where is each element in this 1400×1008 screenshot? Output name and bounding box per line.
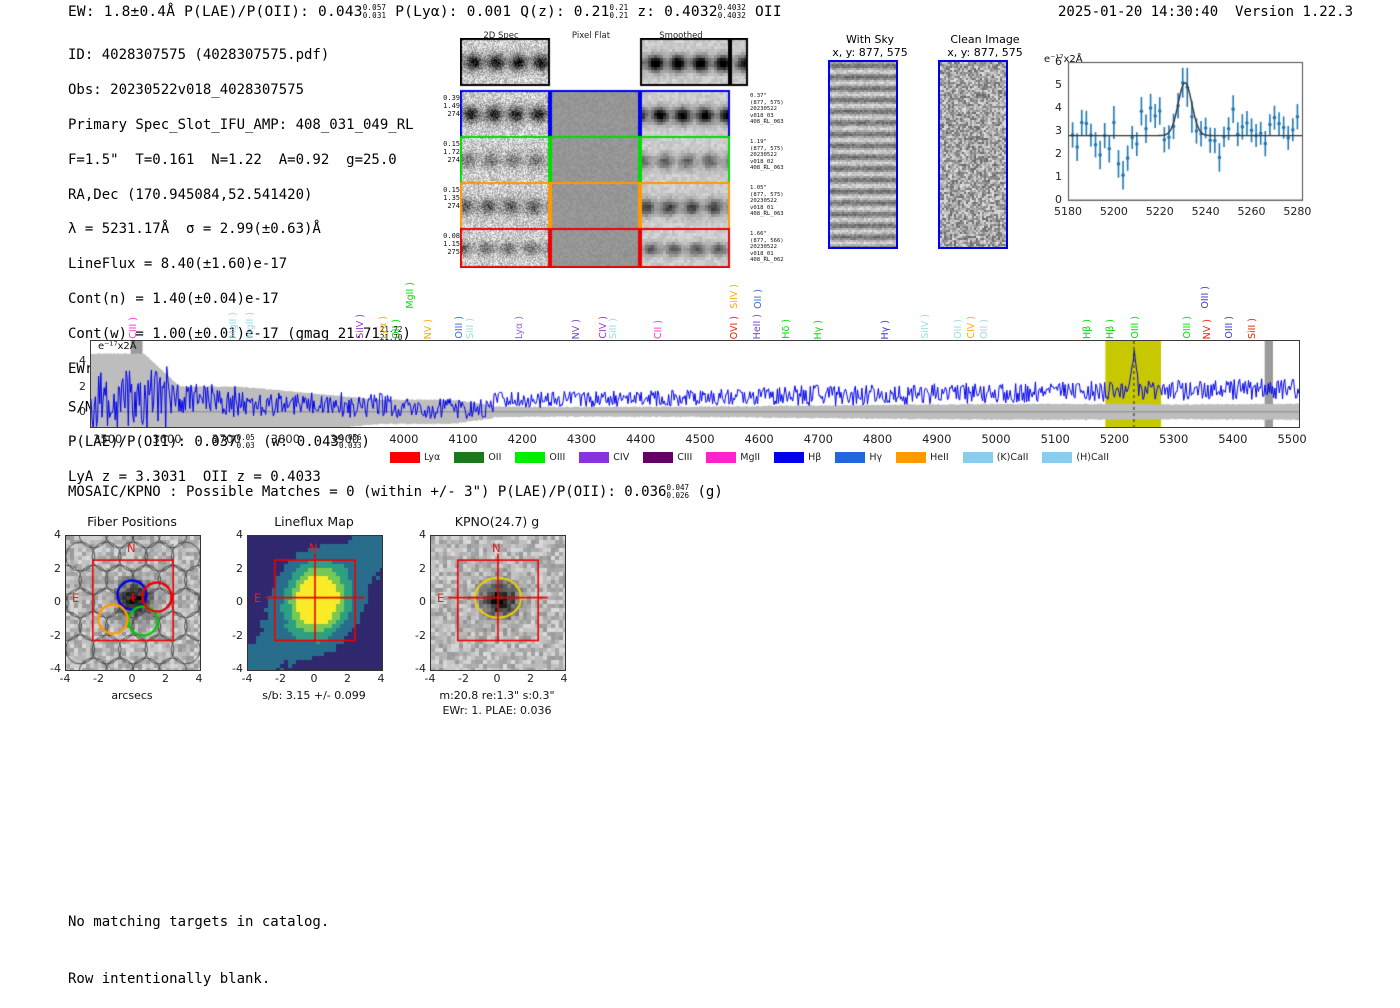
- emission-line-label-CII: CII ): [653, 320, 664, 339]
- panel-xtick: 0: [120, 672, 144, 685]
- emission-line-label-H: Hγ ): [813, 320, 824, 340]
- panel-xtick: 0: [485, 672, 509, 685]
- panel-ytick: 0: [406, 595, 426, 608]
- legend-color-chip: [454, 452, 484, 463]
- cutout-left-value: 0.08: [432, 232, 460, 240]
- emission-line-label-HeII: HeII ): [752, 314, 763, 339]
- spectrum-xtick: 4400: [617, 432, 665, 446]
- legend-label: (H)CaII: [1076, 452, 1109, 463]
- panel-ytick: -4: [406, 662, 426, 675]
- legend-label: MgII: [740, 452, 760, 463]
- panel-ytick: -4: [223, 662, 243, 675]
- emission-line-label-OIII: OIII ): [454, 316, 465, 339]
- imaging-panels: Fiber PositionsNE-4-2024420-2-4arcsecsLi…: [0, 0, 1400, 200]
- legend-color-chip: [774, 452, 804, 463]
- spectrum-xtick: 4500: [676, 432, 724, 446]
- panel-caption2-2: EWr: 1. PLAE: 0.036: [390, 704, 604, 717]
- spectrum-xtick: 4800: [854, 432, 902, 446]
- compass-north-2: N: [492, 541, 501, 555]
- panel-image-2[interactable]: [430, 535, 566, 671]
- emission-line-label-Ly: Lyα ): [378, 316, 389, 339]
- spectrum-xtick: 5000: [972, 432, 1020, 446]
- emission-line-labels: CIII )MgII )MgII )SiIV )Lyα )OII )MgII )…: [90, 275, 1300, 339]
- spectrum-flux-annotation: e⁻¹⁷x2Å: [98, 341, 137, 352]
- mosaic-match-line: MOSAIC/KPNO : Possible Matches = 0 (with…: [68, 484, 723, 500]
- full-spectrum-canvas: [91, 341, 1299, 427]
- panel-ytick: -2: [406, 629, 426, 642]
- compass-north-0: N: [127, 541, 136, 555]
- emission-line-label-H: Hγ ): [880, 320, 891, 340]
- compass-east-2: E: [437, 591, 444, 605]
- legend-label: OIII: [549, 452, 565, 463]
- legend-entry: OIII: [515, 452, 565, 463]
- legend-entry: CIII: [643, 452, 692, 463]
- legend-label: HeII: [930, 452, 949, 463]
- compass-east-1: E: [254, 591, 261, 605]
- panel-ytick: 0: [41, 595, 61, 608]
- panel-ytick: 4: [41, 528, 61, 541]
- emission-line-label-SiII: SiII ): [608, 318, 619, 339]
- legend-color-chip: [963, 452, 993, 463]
- spectrum-ytick: 2: [70, 380, 86, 393]
- zoom-xtick: 5240: [1190, 205, 1222, 218]
- emission-line-label-SiII: SiII ): [465, 318, 476, 339]
- cutout-right-value: 20230522: [750, 244, 808, 251]
- emission-line-label-MgII: MgII ): [228, 312, 239, 339]
- panel-ytick: -4: [41, 662, 61, 675]
- spectrum-xtick: 4900: [913, 432, 961, 446]
- cutout-left-label-4: 0.081.15275: [432, 232, 460, 257]
- legend-entry: CIV: [579, 452, 629, 463]
- zoom-xtick: 5180: [1052, 205, 1084, 218]
- info-wavelength: λ = 5231.17Å σ = 2.99(±0.63)Å: [68, 221, 414, 238]
- panel-ytick: 2: [223, 562, 243, 575]
- emission-line-label-OII: OII ): [753, 289, 764, 309]
- panel-xtick: 4: [187, 672, 211, 685]
- cutout-left-value: 274: [432, 202, 460, 210]
- legend-label: Hγ: [869, 452, 882, 463]
- legend-color-chip: [835, 452, 865, 463]
- legend-color-chip: [515, 452, 545, 463]
- cutout-right-label-4: 1.66"(877, 566)20230522v018_01408_RL_062: [750, 231, 808, 264]
- panel-xtick: 4: [552, 672, 576, 685]
- emission-line-label-NV: NV ): [571, 319, 582, 339]
- panel-xtick: 2: [519, 672, 543, 685]
- legend-entry: HeII: [896, 452, 949, 463]
- emission-line-label-SiIV: SiIV ): [920, 314, 931, 339]
- cutout-left-value: 275: [432, 248, 460, 256]
- footer-note: No matching targets in catalog. Row inte…: [68, 875, 329, 1008]
- emission-line-label-SiIV: SiIV ): [729, 284, 740, 309]
- panel-title-2: KPNO(24.7) g: [405, 514, 589, 529]
- spectrum-ytick: 4: [70, 354, 86, 367]
- zoom-xtick: 5200: [1098, 205, 1130, 218]
- cutout-right-value: 408_RL_062: [750, 257, 808, 264]
- footer-line-2: Row intentionally blank.: [68, 970, 329, 989]
- compass-east-0: E: [72, 591, 79, 605]
- spectrum-xtick: 5200: [1090, 432, 1138, 446]
- spectrum-xtick: 5400: [1209, 432, 1257, 446]
- legend-color-chip: [643, 452, 673, 463]
- panel-ytick: 2: [41, 562, 61, 575]
- emission-line-label-H: Hβ ): [1082, 319, 1093, 339]
- panel-image-1[interactable]: [247, 535, 383, 671]
- legend-entry: MgII: [706, 452, 760, 463]
- cutout-right-value: v018_01: [750, 251, 808, 258]
- panel-xtick: -2: [269, 672, 293, 685]
- panel-ytick: 2: [406, 562, 426, 575]
- zoom-xtick: 5260: [1236, 205, 1268, 218]
- cutout-right-value: v018_01: [750, 205, 808, 212]
- panel-xtick: -2: [452, 672, 476, 685]
- mosaic-text: MOSAIC/KPNO : Possible Matches = 0 (with…: [68, 484, 666, 500]
- legend-color-chip: [896, 452, 926, 463]
- emission-line-label-SiII: SiII ): [1247, 318, 1258, 339]
- panel-ytick: 4: [223, 528, 243, 541]
- spectrum-xtick: 3600: [143, 432, 191, 446]
- emission-line-label-NV: NV ): [1202, 319, 1213, 339]
- cutout-right-value: (877, 566): [750, 238, 808, 245]
- legend-color-chip: [706, 452, 736, 463]
- legend-entry: (H)CaII: [1042, 452, 1109, 463]
- cutout-right-value: 408_RL_063: [750, 211, 808, 218]
- spectrum-xtick: 4600: [735, 432, 783, 446]
- legend-label: Lyα: [424, 452, 440, 463]
- panel-ytick: 0: [223, 595, 243, 608]
- emission-line-label-OII: OII ): [953, 319, 964, 339]
- info-lineflux: LineFlux = 8.40(±1.60)e-17: [68, 256, 414, 273]
- panel-caption-1: s/b: 3.15 +/- 0.099: [207, 689, 421, 702]
- spectrum-xtick: 5100: [1031, 432, 1079, 446]
- emission-line-label-MgII: MgII ): [245, 312, 256, 339]
- zoom-xtick: 5220: [1144, 205, 1176, 218]
- panel-caption-2: m:20.8 re:1.3" s:0.3": [390, 689, 604, 702]
- panel-title-1: Lineflux Map: [222, 514, 406, 529]
- emission-line-label-Ly: Lyα ): [514, 316, 525, 339]
- spectrum-xtick: 5300: [1150, 432, 1198, 446]
- emission-line-label-OIII: OIII ): [1200, 286, 1211, 309]
- spectrum-xtick: 4700: [794, 432, 842, 446]
- panel-xtick: 2: [154, 672, 178, 685]
- legend-label: CIV: [613, 452, 629, 463]
- panel-xlabel-0: arcsecs: [35, 689, 229, 702]
- footer-line-1: No matching targets in catalog.: [68, 913, 329, 932]
- legend-color-chip: [390, 452, 420, 463]
- spectrum-legend: LyαOIIOIIICIVCIIIMgIIHβHγHeII(K)CaII(H)C…: [390, 452, 1123, 463]
- panel-xtick: 4: [369, 672, 393, 685]
- spectrum-ytick: 0: [70, 405, 86, 418]
- panel-ytick: -2: [223, 629, 243, 642]
- compass-north-1: N: [309, 541, 318, 555]
- panel-ytick: 4: [406, 528, 426, 541]
- legend-label: OII: [488, 452, 501, 463]
- spectrum-xtick: 4300: [557, 432, 605, 446]
- mosaic-band: (g): [697, 484, 722, 500]
- emission-line-label-MgII: MgII ): [405, 282, 416, 309]
- legend-color-chip: [579, 452, 609, 463]
- spectrum-xtick: 4200: [498, 432, 546, 446]
- emission-line-label-OII: OII ): [391, 319, 402, 339]
- legend-color-chip: [1042, 452, 1072, 463]
- legend-label: (K)CaII: [997, 452, 1029, 463]
- legend-label: CIII: [677, 452, 692, 463]
- panel-title-0: Fiber Positions: [40, 514, 224, 529]
- spectrum-xtick: 3800: [261, 432, 309, 446]
- spectrum-xtick: 3500: [84, 432, 132, 446]
- legend-entry: OII: [454, 452, 501, 463]
- legend-entry: (K)CaII: [963, 452, 1029, 463]
- panel-xtick: 0: [302, 672, 326, 685]
- emission-line-label-CIII: CIII ): [128, 317, 139, 339]
- mosaic-plae-uncertainty: 0.0470.026: [666, 484, 689, 500]
- spectrum-xtick: 4100: [439, 432, 487, 446]
- panel-xtick: 2: [336, 672, 360, 685]
- emission-line-label-OII: OII ): [979, 319, 990, 339]
- emission-line-label-SiIV: SiIV ): [355, 314, 366, 339]
- emission-line-label-OIII: OIII ): [1224, 316, 1235, 339]
- emission-line-label-NV: NV ): [423, 319, 434, 339]
- legend-label: Hβ: [808, 452, 821, 463]
- spectrum-xtick: 3900: [321, 432, 369, 446]
- emission-line-label-H: Hδ ): [781, 319, 792, 339]
- spectrum-xtick: 4000: [380, 432, 428, 446]
- panel-image-0[interactable]: [65, 535, 201, 671]
- mosaic-plae-lo: 0.026: [666, 492, 689, 500]
- zoom-xtick: 5280: [1281, 205, 1313, 218]
- emission-line-label-OIII: OIII ): [1130, 316, 1141, 339]
- legend-entry: Hβ: [774, 452, 821, 463]
- legend-entry: Lyα: [390, 452, 440, 463]
- emission-line-label-OIII: OIII ): [1182, 316, 1193, 339]
- cutout-left-value: 1.15: [432, 240, 460, 248]
- panel-ytick: -2: [41, 629, 61, 642]
- panel-xtick: -2: [87, 672, 111, 685]
- emission-line-label-OVI: OVI ): [729, 316, 740, 339]
- full-spectrum-plot: [90, 340, 1300, 428]
- emission-line-label-CIV: CIV ): [966, 316, 977, 339]
- cutout-right-value: 1.66": [750, 231, 808, 238]
- legend-entry: Hγ: [835, 452, 882, 463]
- spectrum-xtick: 3700: [202, 432, 250, 446]
- emission-line-label-H: Hβ ): [1105, 319, 1116, 339]
- spectrum-xtick: 5500: [1268, 432, 1316, 446]
